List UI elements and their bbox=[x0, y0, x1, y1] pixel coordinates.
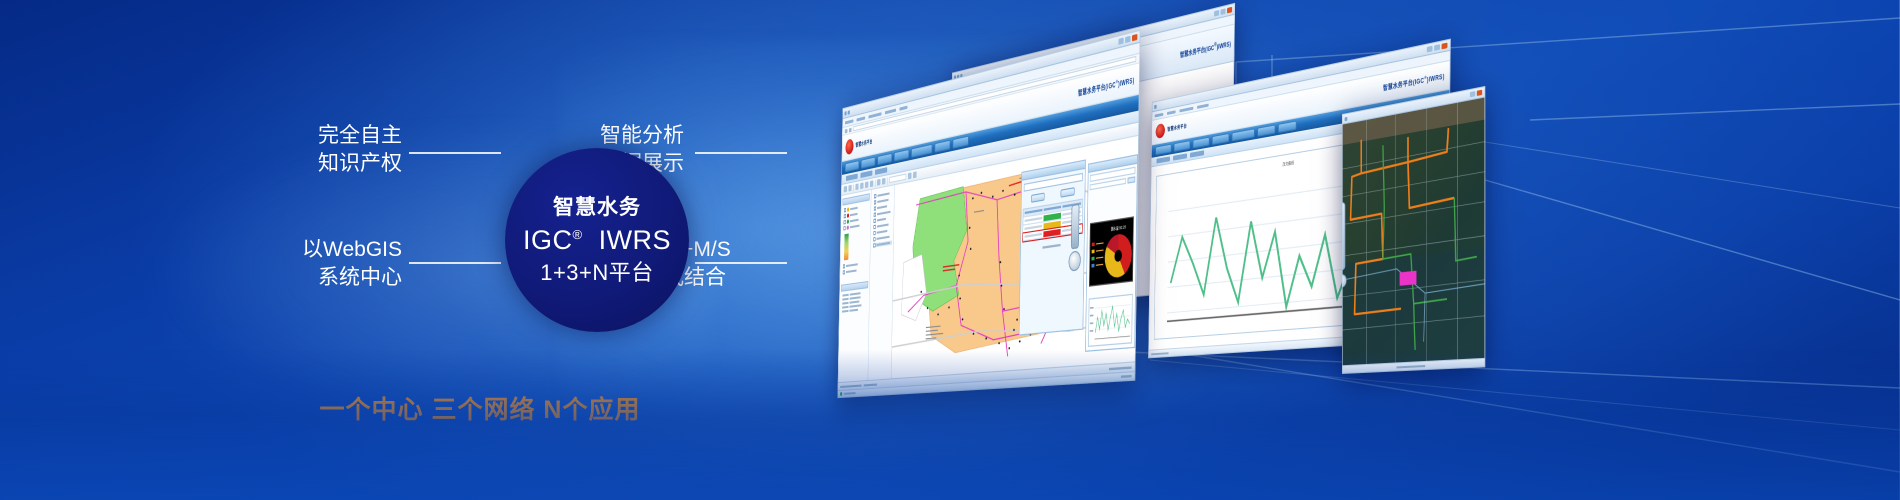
window-front-taskbar[interactable] bbox=[838, 371, 1135, 397]
legend-item bbox=[1092, 241, 1104, 246]
maximize-button[interactable] bbox=[1221, 8, 1226, 15]
save-icon[interactable] bbox=[848, 110, 850, 115]
feature-label bbox=[877, 211, 890, 216]
toolbar-divider bbox=[875, 179, 876, 186]
window-controls[interactable] bbox=[1470, 90, 1482, 98]
sub-tab-0[interactable] bbox=[1156, 156, 1170, 163]
feature-label bbox=[877, 224, 889, 228]
expand-icon[interactable] bbox=[844, 226, 846, 230]
properties-panel-header bbox=[841, 281, 868, 292]
mini-bar-chart bbox=[1088, 293, 1133, 346]
sub-tab-yali-quxian[interactable] bbox=[860, 170, 872, 178]
nav-tab-hengduanmian[interactable] bbox=[861, 157, 875, 169]
menu-tools[interactable] bbox=[1179, 106, 1193, 112]
sub-tab-2[interactable] bbox=[1190, 150, 1204, 157]
menu-edit[interactable] bbox=[857, 116, 866, 121]
status-coordinates bbox=[1109, 366, 1132, 370]
window-back-app-title: 智慧水务平台(IGC®)IWRS) bbox=[1180, 38, 1231, 59]
layer-color-swatch bbox=[847, 219, 849, 223]
sub-tab-liuliang-jiance[interactable] bbox=[875, 167, 887, 175]
taskbar-label bbox=[844, 392, 856, 395]
layer-label bbox=[850, 225, 860, 229]
app-icon bbox=[1154, 104, 1156, 108]
expand-icon[interactable] bbox=[844, 214, 846, 218]
property-value bbox=[850, 304, 862, 307]
feature-bottom-left: 以WebGIS 系统中心 bbox=[290, 236, 402, 292]
legend-item bbox=[1091, 248, 1103, 253]
layer-tree-panel[interactable] bbox=[838, 190, 871, 382]
mini-chart-svg bbox=[1089, 295, 1132, 346]
feature-tree-item-selected[interactable] bbox=[873, 240, 892, 247]
registered-mark-icon: ® bbox=[572, 227, 582, 242]
expand-icon[interactable] bbox=[874, 194, 876, 199]
expand-icon[interactable] bbox=[844, 220, 846, 224]
feature-top-right-line1: 智能分析 bbox=[600, 122, 684, 150]
feature-top-left: 完全自主 知识产权 bbox=[306, 122, 402, 178]
menu-file[interactable] bbox=[845, 119, 854, 124]
hub-iwrs: IWRS bbox=[599, 225, 672, 255]
col-name bbox=[1025, 209, 1042, 214]
property-value bbox=[850, 300, 860, 303]
app-title-text: 智慧水务平台(IGC bbox=[1180, 45, 1214, 59]
zoom-slider[interactable] bbox=[1071, 204, 1080, 250]
feature-bottom-left-line2: 系统中心 bbox=[290, 264, 402, 292]
zoom-in-icon[interactable] bbox=[855, 183, 858, 190]
property-key bbox=[842, 302, 848, 305]
brand-name: 智慧水务平台 bbox=[856, 138, 873, 149]
app-icon bbox=[845, 111, 847, 116]
window-middle-app-title: 智慧水务平台(IGC®)IWRS) bbox=[1383, 71, 1445, 93]
close-button[interactable] bbox=[1442, 43, 1448, 50]
hub-title: 智慧水务 bbox=[553, 197, 641, 218]
cell-name bbox=[1025, 225, 1042, 230]
pan-icon[interactable] bbox=[865, 181, 868, 188]
layer-label bbox=[846, 269, 857, 273]
col-status bbox=[1043, 206, 1061, 211]
nav-tab-zongduanmian[interactable] bbox=[877, 153, 892, 165]
window-map-statusbar bbox=[1343, 358, 1485, 373]
status-message bbox=[840, 384, 861, 387]
donut-title: 漏水量:52.29 bbox=[1111, 224, 1126, 232]
close-button[interactable] bbox=[1227, 7, 1232, 14]
leak-donut-chart: 漏水量:52.29 bbox=[1089, 217, 1134, 287]
layer-color-swatch bbox=[847, 207, 849, 211]
property-value bbox=[850, 296, 861, 299]
cell-name bbox=[1025, 217, 1042, 222]
layer-color-ramp bbox=[844, 234, 849, 261]
hub-platform: 1+3+N平台 bbox=[540, 262, 654, 284]
layer-color-swatch bbox=[847, 225, 849, 229]
feature-top-left-line1: 完全自主 bbox=[306, 122, 402, 150]
property-key bbox=[842, 306, 848, 309]
menu-window[interactable] bbox=[885, 108, 896, 114]
maximize-button[interactable] bbox=[1125, 36, 1130, 43]
legend-icon[interactable] bbox=[913, 171, 917, 178]
save-icon[interactable] bbox=[848, 185, 851, 192]
hub-circle: 智慧水务 IGC® IWRS 1+3+N平台 bbox=[505, 148, 689, 332]
expand-icon[interactable] bbox=[873, 237, 875, 241]
toolbar-divider bbox=[853, 184, 854, 191]
brand-name: 智慧水务平台 bbox=[1167, 122, 1187, 133]
hub-igc: IGC bbox=[523, 225, 573, 255]
app-title-text: 智慧水务平台(IGC bbox=[1078, 82, 1116, 98]
analysis-dialog-footer bbox=[1043, 244, 1061, 249]
screenshot-stack: 智慧水务平台(IGC®)IWRS) bbox=[960, 0, 1900, 500]
window-front-statusbar bbox=[838, 361, 1135, 390]
maximize-button[interactable] bbox=[1434, 44, 1440, 51]
app-title-tail: )IWRS) bbox=[1118, 78, 1134, 89]
app-title-tail: )IWRS) bbox=[1217, 42, 1231, 52]
minimize-button[interactable] bbox=[1214, 10, 1219, 17]
stats-panel[interactable]: 漏水量:52.29 bbox=[1085, 154, 1137, 352]
app-title-text: 智慧水务平台(IGC bbox=[1383, 78, 1424, 92]
cell-name bbox=[1024, 233, 1041, 238]
sub-tab-1[interactable] bbox=[1173, 153, 1187, 160]
layer-label bbox=[850, 213, 857, 216]
select-icon[interactable] bbox=[870, 180, 873, 187]
menu-tools[interactable] bbox=[868, 112, 881, 118]
minimize-button[interactable] bbox=[1470, 91, 1475, 97]
connector-bottom-left bbox=[409, 262, 501, 264]
nav-tab-guanwang-chaxun[interactable] bbox=[845, 160, 859, 172]
toolbar-divider bbox=[887, 177, 888, 184]
measure-icon[interactable] bbox=[882, 178, 885, 185]
feature-tree-panel[interactable] bbox=[868, 185, 895, 380]
query-button[interactable] bbox=[1031, 193, 1045, 203]
zoom-out-icon[interactable] bbox=[860, 182, 863, 189]
identify-icon[interactable] bbox=[877, 179, 880, 186]
minimize-button[interactable] bbox=[1427, 46, 1433, 53]
connector-top-right bbox=[695, 152, 787, 154]
expand-icon[interactable] bbox=[874, 206, 876, 211]
expand-icon[interactable] bbox=[873, 243, 875, 247]
donut-graphic bbox=[1104, 232, 1132, 279]
feature-bottom-left-line1: 以WebGIS bbox=[290, 236, 402, 264]
donut-legend bbox=[1091, 240, 1103, 269]
expand-icon[interactable] bbox=[873, 231, 875, 235]
expand-icon[interactable] bbox=[844, 208, 846, 212]
layer-icon[interactable] bbox=[908, 172, 912, 179]
status-badge-red bbox=[1043, 228, 1061, 236]
pan-compass-icon[interactable] bbox=[1069, 251, 1081, 272]
layer-color-swatch bbox=[847, 213, 849, 217]
company-logo-icon bbox=[845, 138, 853, 155]
satellite-map-canvas[interactable] bbox=[1343, 98, 1485, 366]
app-icon bbox=[1345, 116, 1348, 120]
menu-edit[interactable] bbox=[1167, 110, 1176, 115]
taskbar-clock bbox=[1121, 375, 1132, 378]
menu-help[interactable] bbox=[899, 105, 907, 110]
feature-label bbox=[877, 205, 887, 209]
minimize-button[interactable] bbox=[1118, 38, 1123, 45]
menu-file[interactable] bbox=[1155, 112, 1164, 117]
window-satellite-map[interactable] bbox=[1342, 86, 1485, 374]
company-logo-icon bbox=[1156, 123, 1165, 139]
banner-background: 完全自主 知识产权 以WebGIS 系统中心 智能分析 数据展示 C/S+B/S… bbox=[0, 0, 1900, 500]
hub-product-code: IGC® IWRS bbox=[523, 227, 671, 254]
expand-icon[interactable] bbox=[874, 200, 876, 205]
layer-label bbox=[846, 263, 858, 267]
status-scale bbox=[864, 383, 877, 386]
layer-label bbox=[850, 219, 859, 223]
legend-item bbox=[1091, 262, 1103, 267]
feature-label bbox=[877, 218, 886, 222]
layer-label bbox=[850, 207, 857, 210]
infographic-group: 完全自主 知识产权 以WebGIS 系统中心 智能分析 数据展示 C/S+B/S… bbox=[0, 0, 960, 500]
app-title-tail: )IWRS) bbox=[1427, 74, 1445, 84]
property-value bbox=[850, 292, 861, 295]
expand-icon[interactable] bbox=[843, 264, 845, 268]
legend-item bbox=[1091, 255, 1103, 260]
status-text bbox=[1151, 352, 1168, 355]
expand-icon[interactable] bbox=[874, 225, 876, 229]
menu-window[interactable] bbox=[1197, 103, 1209, 108]
expand-icon[interactable] bbox=[874, 219, 876, 223]
property-key bbox=[842, 298, 848, 301]
status-scale bbox=[1397, 365, 1426, 368]
expand-icon[interactable] bbox=[874, 212, 876, 216]
feature-label bbox=[877, 199, 888, 203]
feature-label bbox=[877, 236, 890, 240]
feature-top-left-line2: 知识产权 bbox=[306, 150, 402, 178]
forward-icon[interactable] bbox=[849, 127, 852, 132]
property-value bbox=[849, 309, 858, 312]
property-key bbox=[842, 294, 848, 297]
property-row bbox=[842, 308, 868, 313]
feature-label bbox=[877, 192, 889, 196]
back-icon[interactable] bbox=[845, 128, 848, 133]
expand-icon[interactable] bbox=[843, 270, 845, 274]
stats-go-button[interactable] bbox=[1128, 176, 1136, 183]
property-key bbox=[842, 310, 848, 313]
map-navigation-control[interactable] bbox=[1068, 204, 1082, 280]
feature-label bbox=[877, 230, 888, 234]
map-network-overlay bbox=[1343, 98, 1485, 366]
close-button[interactable] bbox=[1477, 90, 1482, 96]
tagline: 一个中心 三个网络 N个应用 bbox=[0, 390, 960, 426]
clear-button[interactable] bbox=[1060, 187, 1074, 198]
layer-select[interactable] bbox=[889, 173, 906, 183]
open-icon[interactable] bbox=[844, 186, 847, 193]
connector-top-left bbox=[409, 152, 501, 154]
close-button[interactable] bbox=[1132, 34, 1137, 41]
map-zoom-slider[interactable] bbox=[1343, 202, 1346, 271]
sub-tab-shuiliang-pingheng[interactable] bbox=[846, 174, 858, 182]
feature-label bbox=[877, 242, 890, 246]
window-front-app-title: 智慧水务平台(IGC®)IWRS) bbox=[1078, 74, 1135, 98]
connection-status-icon bbox=[840, 392, 842, 396]
